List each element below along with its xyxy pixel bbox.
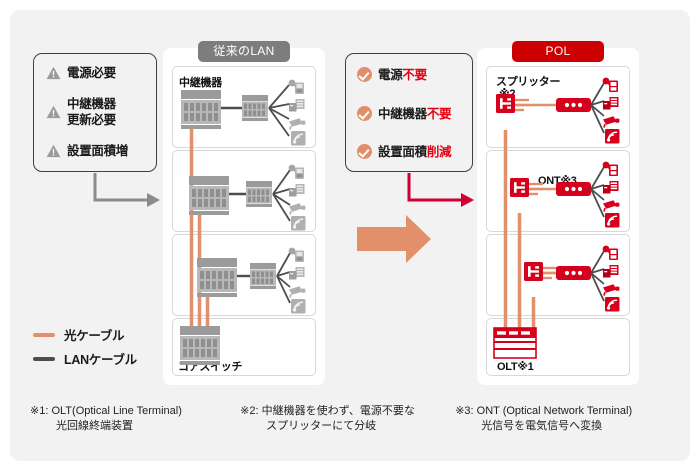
drawback-label-2-line2: 更新必要 [67, 113, 116, 127]
warning-triangle-icon [46, 105, 61, 119]
footnote-3-line1: ONT (Optical Network Terminal) [477, 405, 632, 417]
footnote-3-marker: ※3: [455, 405, 473, 417]
footnote-3: ※3: ONT (Optical Network Terminal) 光信号を電… [455, 404, 680, 434]
drawback-label-3: 設置面積増 [67, 144, 128, 158]
label-olt: OLT※1 [497, 360, 534, 373]
pol-benefits-callout: 電源不要 中継機器不要 設置面積削減 [345, 53, 473, 172]
legend-label-fiber: 光ケーブル [64, 325, 124, 344]
benefit-label-3: 設置面積削減 [378, 145, 451, 159]
label-ont: ONT※3 [538, 174, 577, 187]
benefit-label-2: 中継機器不要 [378, 107, 451, 121]
warning-triangle-icon [46, 66, 61, 80]
drawback-item-3: 設置面積増 [46, 144, 128, 158]
lan-floor-3 [172, 234, 316, 316]
footnote-3-line2: 光信号を電気信号へ変換 [455, 419, 680, 434]
legacy-lan-drawbacks-callout: 電源必要 中継機器 更新必要 設置面積増 [33, 53, 157, 172]
footnote-2: ※2: 中継機器を使わず、電源不要な スプリッターにて分岐 [240, 404, 455, 434]
label-splitter-note: ※2 [499, 87, 515, 100]
check-circle-icon [357, 106, 372, 121]
fiber-cable-swatch [33, 333, 55, 337]
legend-item-fiber: 光ケーブル [33, 325, 137, 344]
lan-cable-swatch [33, 357, 55, 361]
drawback-item-2: 中継機器 更新必要 [46, 97, 116, 127]
footnote-1: ※1: OLT(Optical Line Terminal) 光回線終端装置 [30, 404, 240, 434]
benefit-label-1: 電源不要 [378, 68, 427, 82]
legend-label-lan: LANケーブル [64, 349, 137, 368]
pol-floor-3 [486, 234, 630, 316]
drawback-item-1: 電源必要 [46, 66, 116, 80]
footnote-1-line1: OLT(Optical Line Terminal) [51, 405, 181, 417]
benefit-item-2: 中継機器不要 [357, 106, 451, 121]
footnote-2-line1: 中継機器を使わず、電源不要な [262, 405, 415, 417]
lan-floor-2 [172, 150, 316, 232]
check-circle-icon [357, 67, 372, 82]
pol-floor-2 [486, 150, 630, 232]
footnote-2-line2: スプリッターにて分岐 [240, 419, 455, 434]
footnote-1-line2: 光回線終端装置 [30, 419, 240, 434]
footnote-1-marker: ※1: [30, 405, 48, 417]
benefit-item-3: 設置面積削減 [357, 144, 451, 159]
footnote-2-marker: ※2: [240, 405, 258, 417]
label-repeater: 中継機器 [179, 74, 222, 90]
check-circle-icon [357, 144, 372, 159]
warning-triangle-icon [46, 144, 61, 158]
legend-item-lan: LANケーブル [33, 349, 137, 368]
drawback-label-2-line1: 中継機器 [67, 97, 116, 111]
badge-legacy-lan: 従来のLAN [198, 41, 290, 62]
drawback-label-1: 電源必要 [67, 66, 116, 80]
infographic-root: 従来のLAN POL 電源必要 中継機器 更新必要 設置面積増 [0, 0, 700, 471]
footnotes: ※1: OLT(Optical Line Terminal) 光回線終端装置 ※… [30, 404, 680, 434]
cable-legend: 光ケーブル LANケーブル [33, 325, 137, 373]
benefit-item-1: 電源不要 [357, 67, 427, 82]
badge-pol: POL [512, 41, 604, 62]
label-core-switch: コアスイッチ [178, 358, 242, 374]
